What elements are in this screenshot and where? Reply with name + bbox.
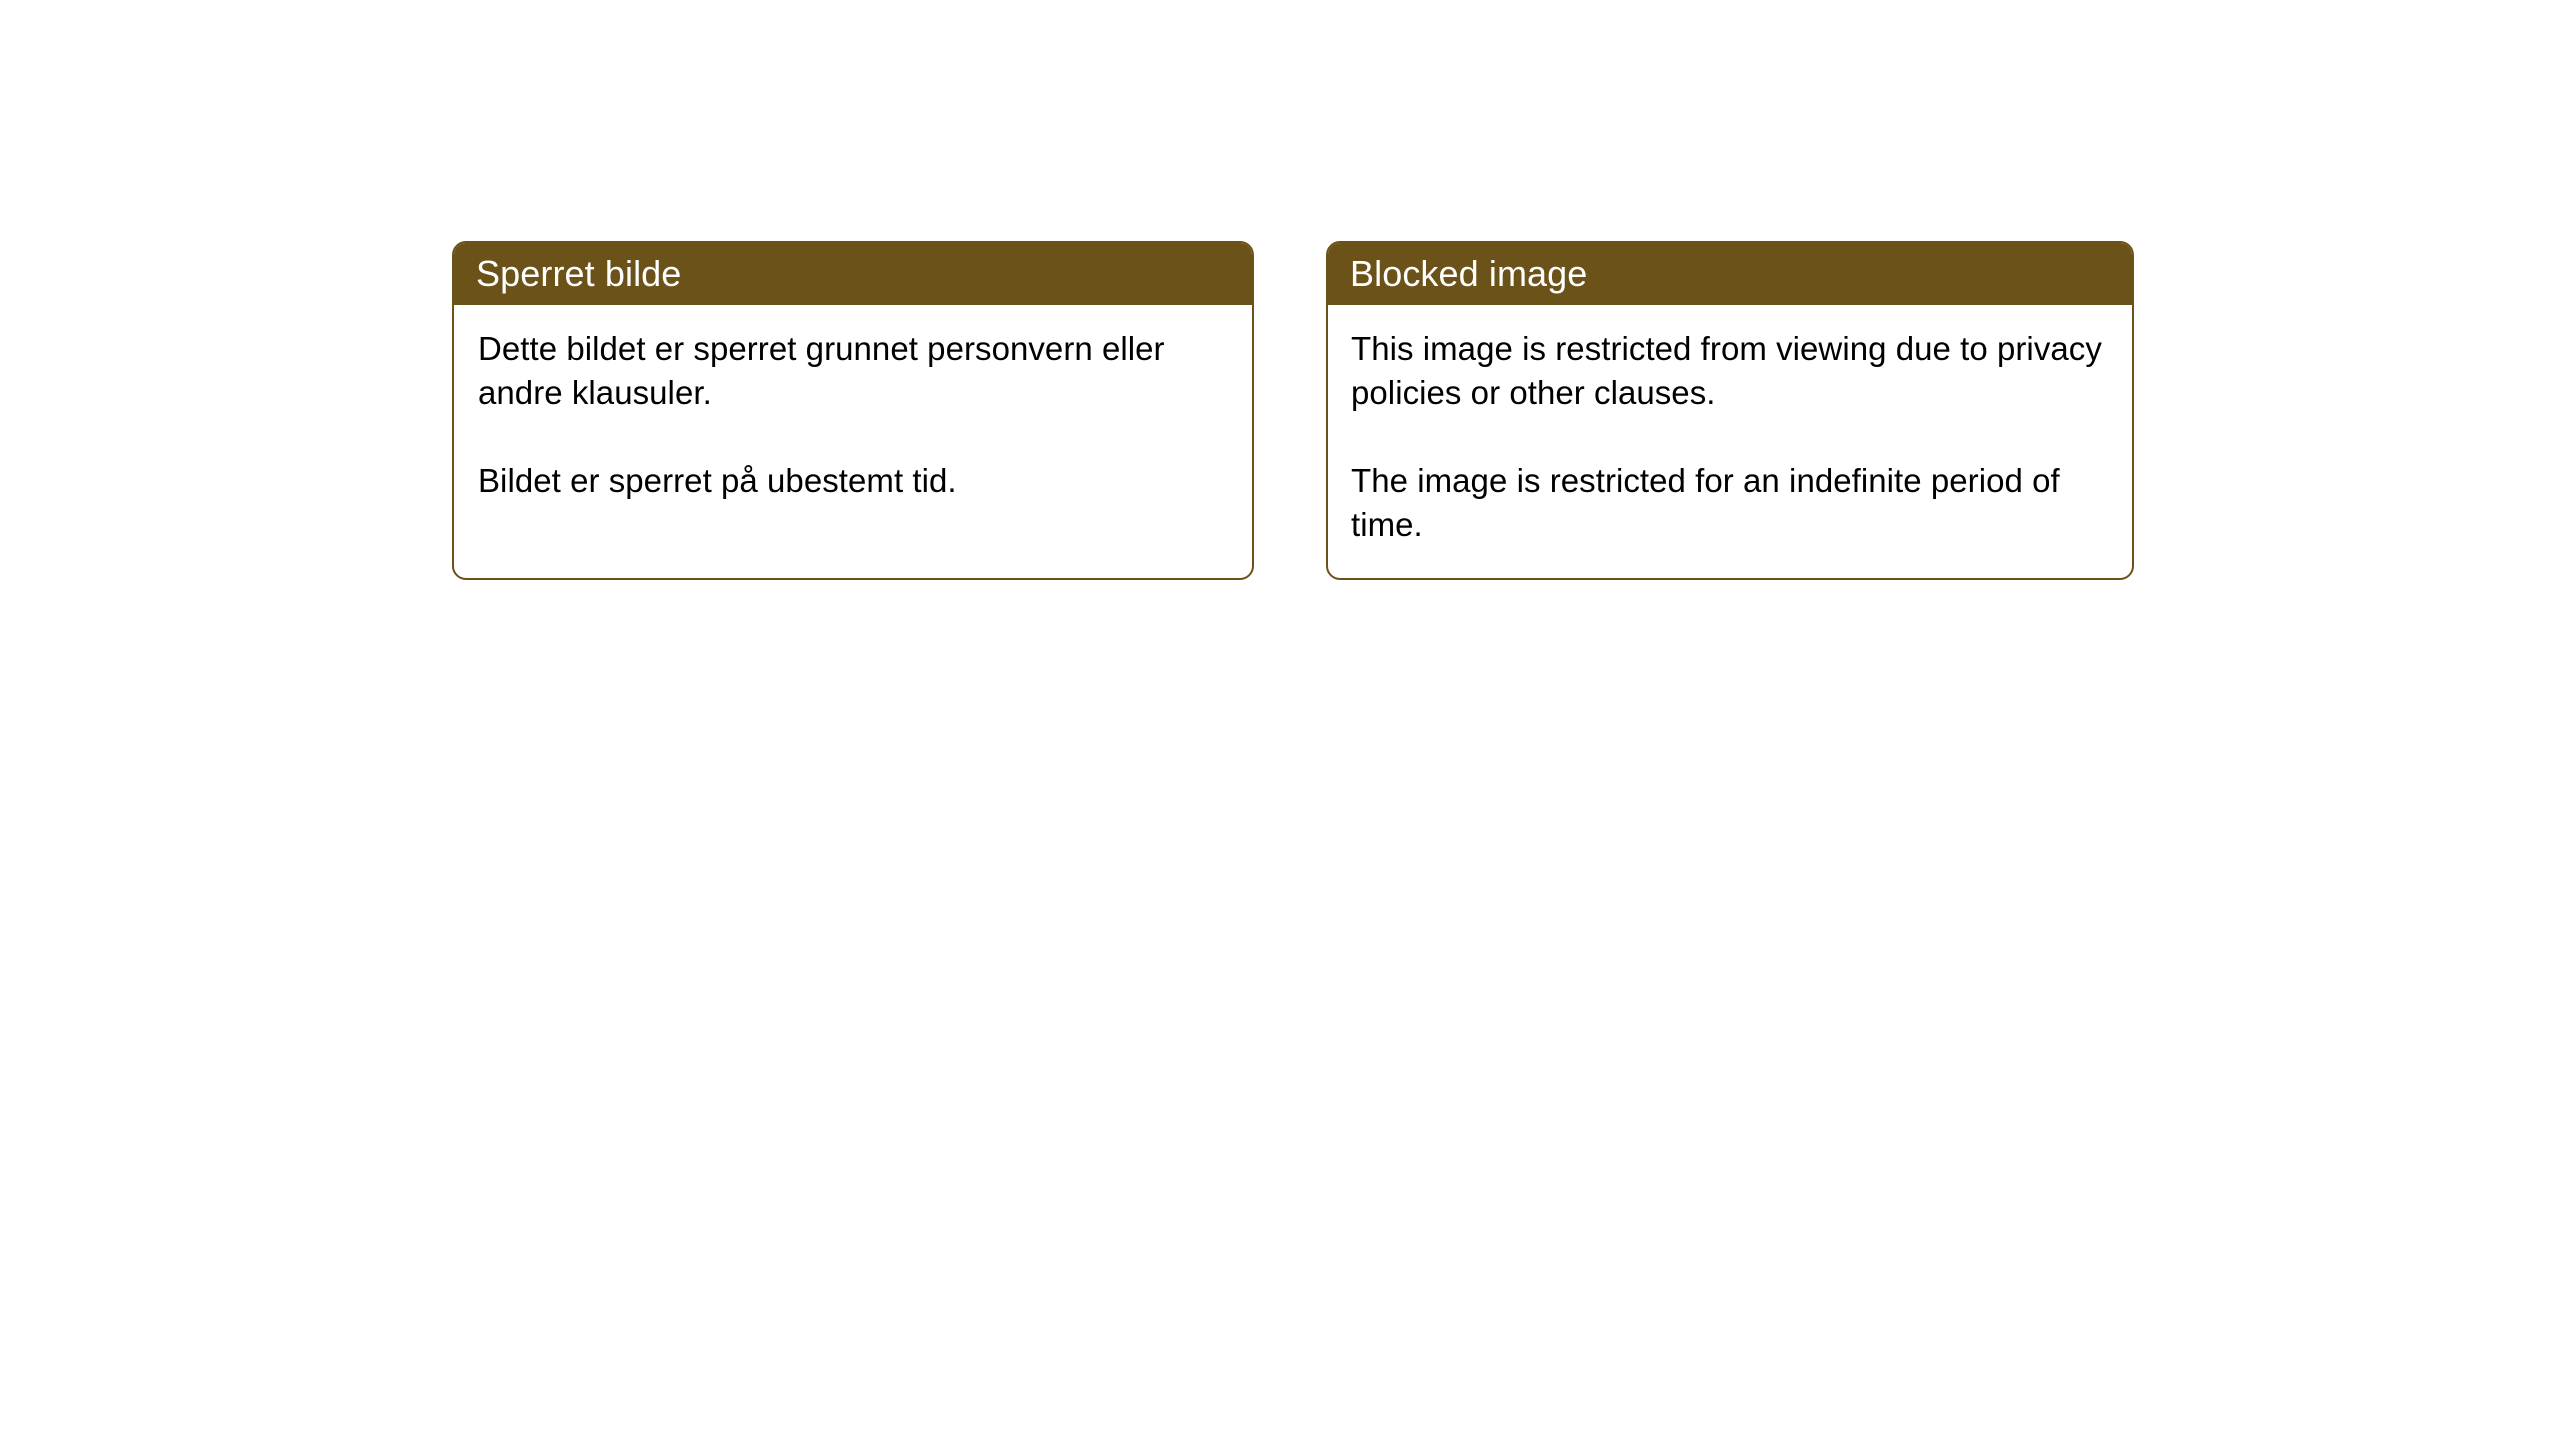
- panel-header-english: Blocked image: [1328, 243, 2132, 305]
- panel-body-norwegian: Dette bildet er sperret grunnet personve…: [454, 305, 1252, 503]
- page-root: Sperret bilde Dette bildet er sperret gr…: [0, 0, 2560, 1440]
- panel-paragraph-reason-english: This image is restricted from viewing du…: [1351, 327, 2114, 415]
- panel-title-norwegian: Sperret bilde: [476, 254, 681, 294]
- panel-body-english: This image is restricted from viewing du…: [1328, 305, 2132, 547]
- panel-paragraph-reason-norwegian: Dette bildet er sperret grunnet personve…: [478, 327, 1228, 415]
- blocked-image-notice-panel-norwegian: Sperret bilde Dette bildet er sperret gr…: [452, 241, 1254, 580]
- blocked-image-notice-panel-english: Blocked image This image is restricted f…: [1326, 241, 2134, 580]
- panel-paragraph-duration-norwegian: Bildet er sperret på ubestemt tid.: [478, 459, 1228, 503]
- panel-header-norwegian: Sperret bilde: [454, 243, 1252, 305]
- panel-title-english: Blocked image: [1350, 254, 1587, 294]
- panel-paragraph-duration-english: The image is restricted for an indefinit…: [1351, 459, 2114, 547]
